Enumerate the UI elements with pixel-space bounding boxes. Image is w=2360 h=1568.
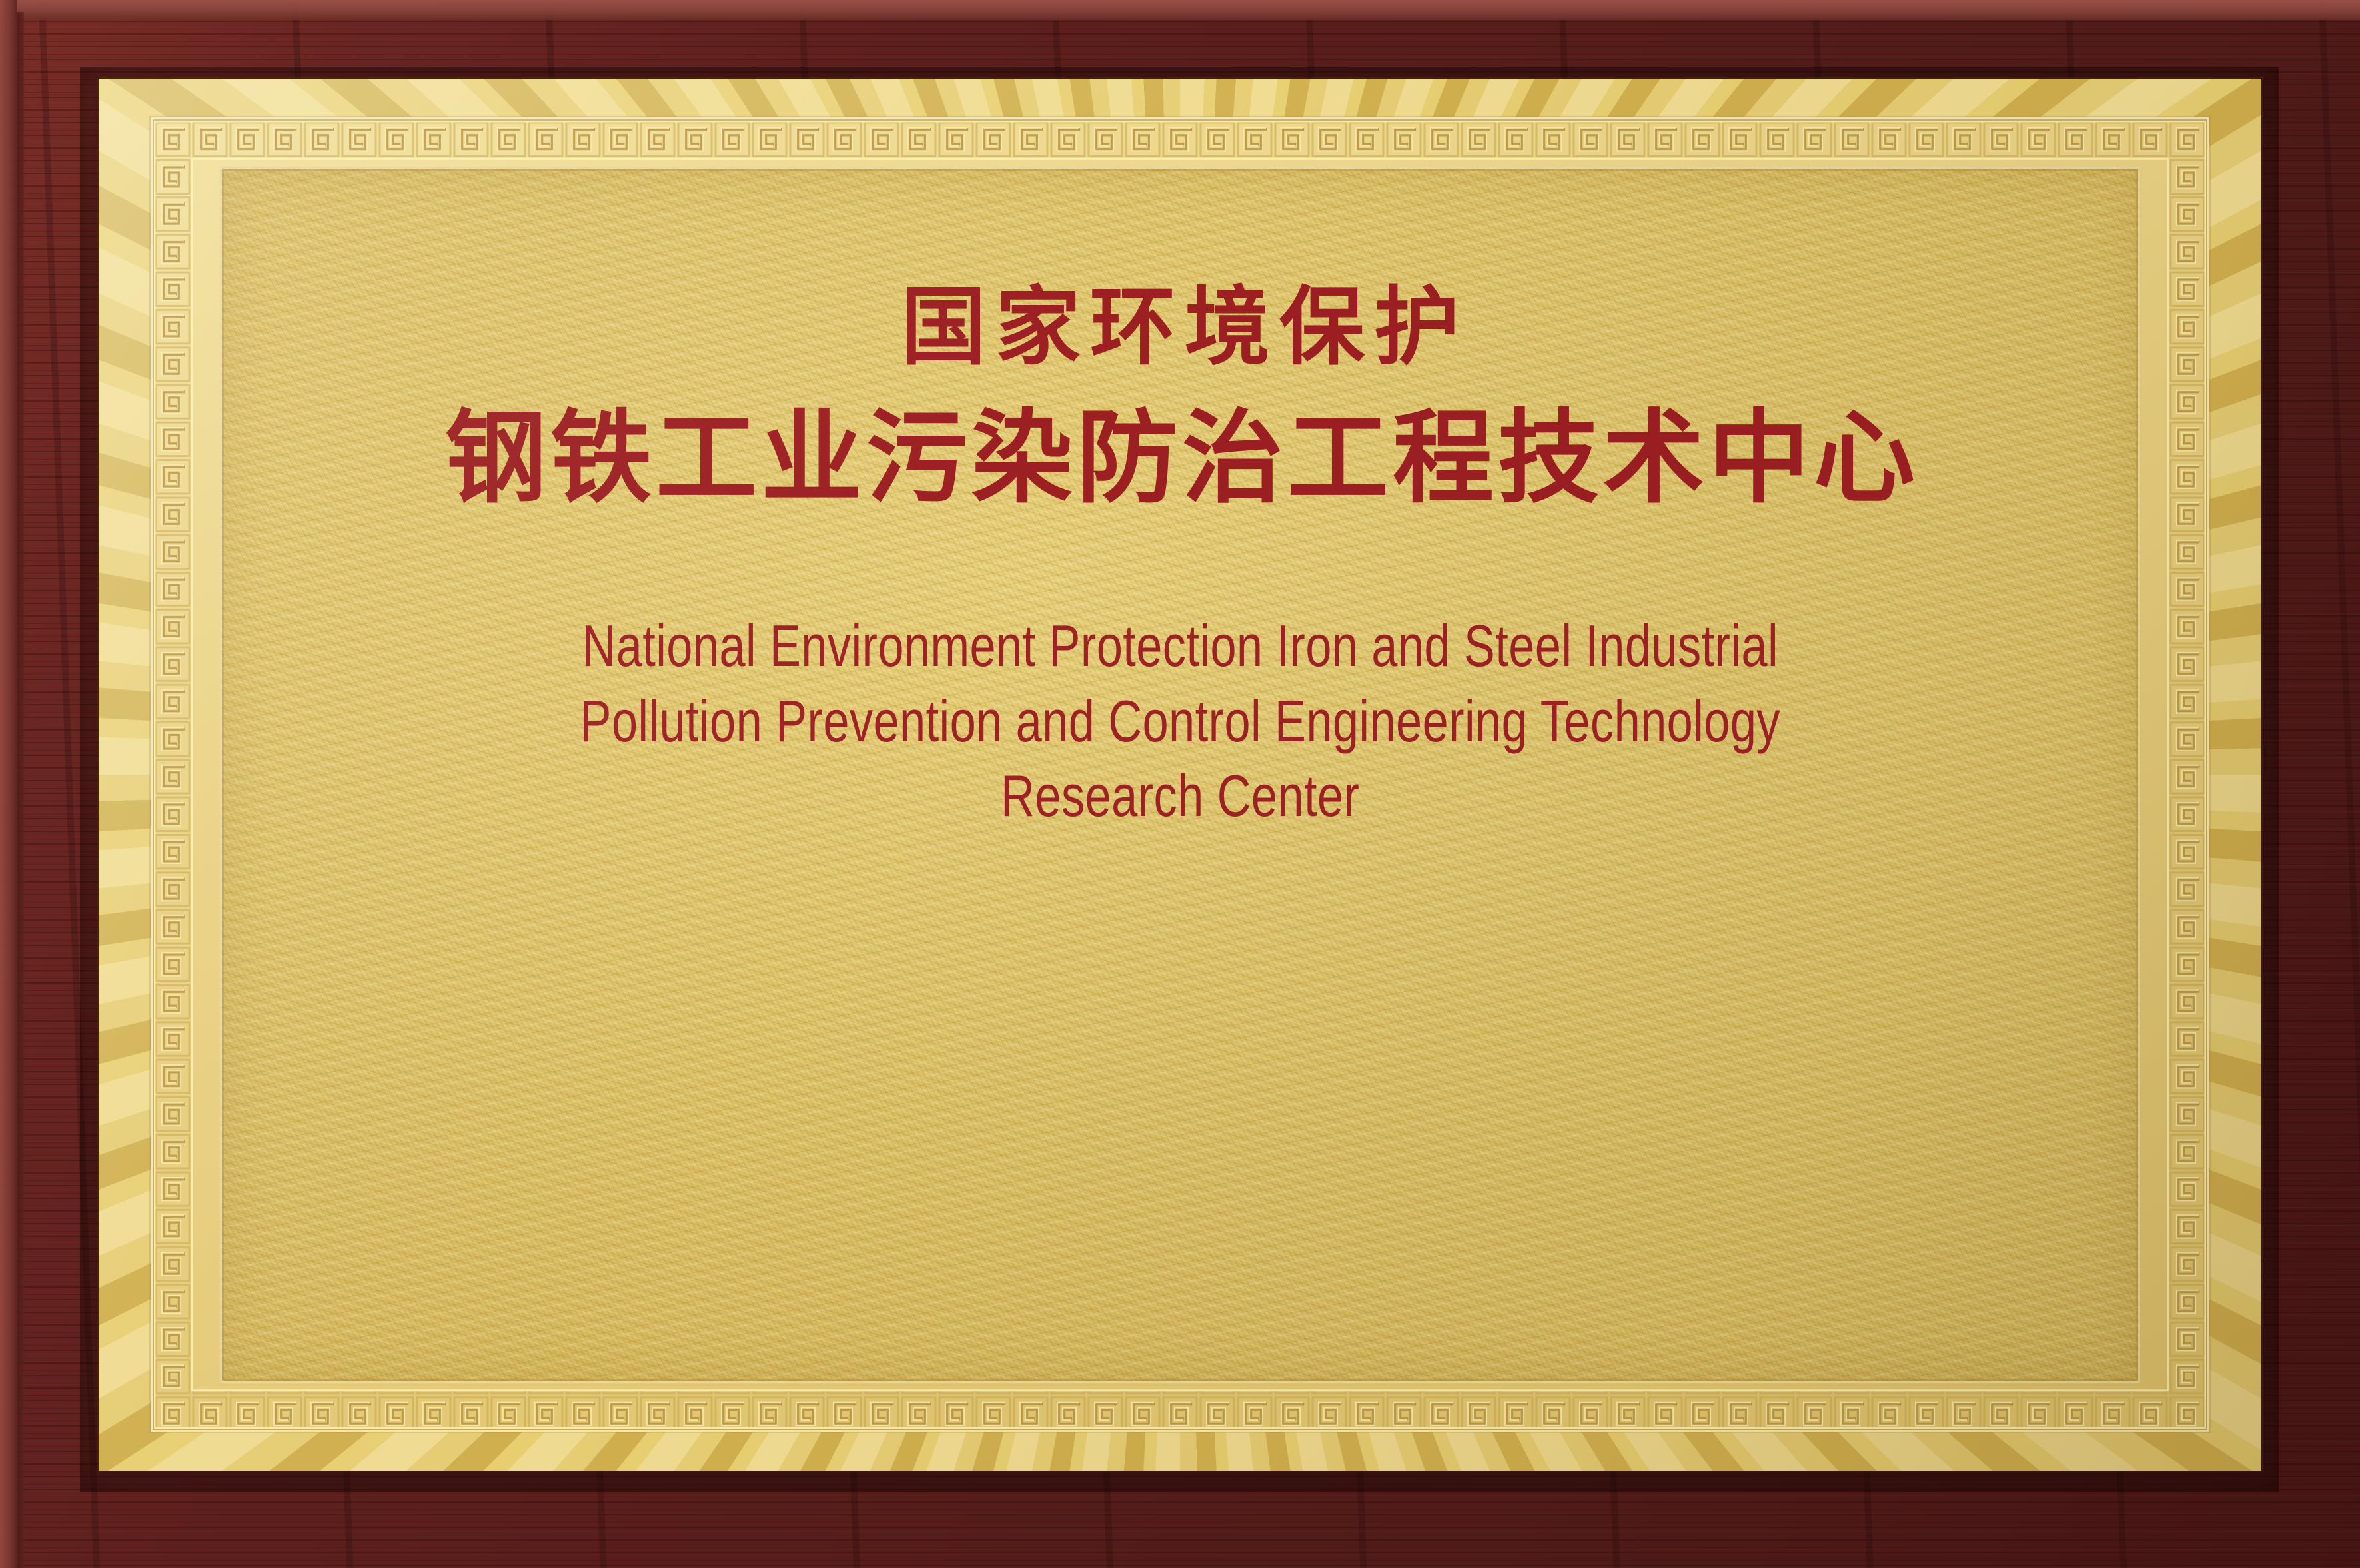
inner-gold-field [220,167,2140,1383]
frame-bevel-left-inner [17,12,24,1568]
gold-plate: 国家环境保护 钢铁工业污染防治工程技术中心 National Environme… [99,79,2261,1471]
frame-bevel-top [0,0,2360,20]
plaque-image: 国家环境保护 钢铁工业污染防治工程技术中心 National Environme… [0,0,2360,1568]
frame-bevel-left [0,0,17,1568]
